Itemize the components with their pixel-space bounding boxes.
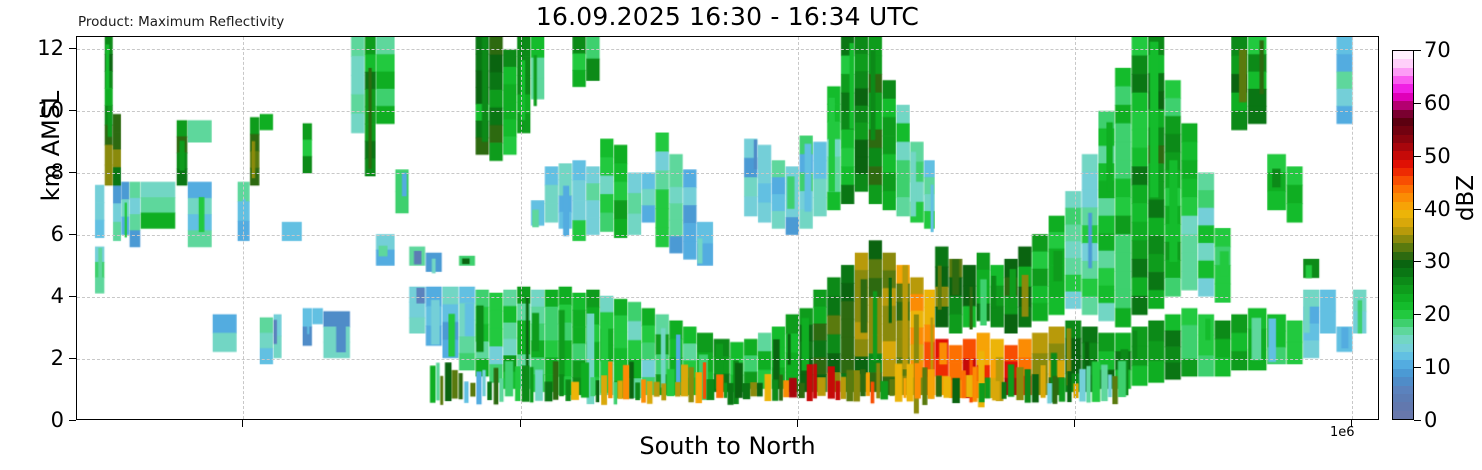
colorbar-segment: [1393, 327, 1413, 336]
colorbar-segment: [1393, 276, 1413, 285]
y-tick-mark: [69, 358, 76, 359]
colorbar-segment: [1393, 59, 1413, 68]
colorbar-tick-label: 30: [1424, 249, 1451, 273]
colorbar-tick-label: 60: [1424, 91, 1451, 115]
colorbar-segment: [1393, 360, 1413, 369]
y-tick-mark: [69, 234, 76, 235]
colorbar-segment: [1393, 76, 1413, 85]
colorbar-segment: [1393, 402, 1413, 411]
colorbar-segment: [1393, 335, 1413, 344]
reflectivity-heatmap: [77, 37, 1378, 419]
y-tick-mark: [69, 296, 76, 297]
colorbar: [1392, 50, 1414, 420]
y-axis-label: km AMSL: [37, 51, 65, 241]
colorbar-segment: [1393, 184, 1413, 193]
colorbar-tick-mark: [1414, 103, 1421, 104]
colorbar-tick-label: 50: [1424, 144, 1451, 168]
colorbar-segment: [1393, 368, 1413, 377]
y-tick-label: 2: [51, 346, 64, 370]
colorbar-segment: [1393, 84, 1413, 93]
colorbar-tick-label: 70: [1424, 38, 1451, 62]
colorbar-tick-mark: [1414, 420, 1421, 421]
colorbar-segment: [1393, 243, 1413, 252]
colorbar-segment: [1393, 143, 1413, 152]
colorbar-tick-label: 10: [1424, 355, 1451, 379]
x-tick-mark: [242, 420, 243, 427]
colorbar-segment: [1393, 151, 1413, 160]
colorbar-segment: [1393, 377, 1413, 386]
colorbar-segment: [1393, 301, 1413, 310]
page-title: 16.09.2025 16:30 - 16:34 UTC: [76, 2, 1379, 31]
colorbar-tick-mark: [1414, 156, 1421, 157]
colorbar-segment: [1393, 109, 1413, 118]
colorbar-tick-mark: [1414, 367, 1421, 368]
colorbar-tick-mark: [1414, 314, 1421, 315]
colorbar-segment: [1393, 51, 1413, 60]
colorbar-segment: [1393, 67, 1413, 76]
colorbar-segment: [1393, 251, 1413, 260]
colorbar-segment: [1393, 159, 1413, 168]
colorbar-tick-mark: [1414, 209, 1421, 210]
colorbar-gradient: [1392, 50, 1414, 420]
colorbar-segment: [1393, 134, 1413, 143]
y-tick-mark: [69, 420, 76, 421]
plot-area: [76, 36, 1379, 420]
colorbar-segment: [1393, 260, 1413, 269]
colorbar-segment: [1393, 218, 1413, 227]
x-axis-label: South to North: [76, 432, 1379, 460]
colorbar-segment: [1393, 126, 1413, 135]
colorbar-tick-label: 20: [1424, 302, 1451, 326]
colorbar-segment: [1393, 226, 1413, 235]
colorbar-segment: [1393, 293, 1413, 302]
x-tick-mark: [520, 420, 521, 427]
colorbar-segment: [1393, 352, 1413, 361]
colorbar-segment: [1393, 285, 1413, 294]
colorbar-tick-mark: [1414, 50, 1421, 51]
colorbar-segment: [1393, 117, 1413, 126]
colorbar-label: dBZ: [1453, 138, 1479, 258]
y-tick-mark: [69, 110, 76, 111]
colorbar-tick-label: 40: [1424, 197, 1451, 221]
colorbar-segment: [1393, 385, 1413, 394]
colorbar-segment: [1393, 176, 1413, 185]
colorbar-segment: [1393, 101, 1413, 110]
colorbar-segment: [1393, 268, 1413, 277]
colorbar-tick-label: 0: [1424, 408, 1437, 432]
x-axis-offset-text: 1e6: [1330, 425, 1355, 440]
colorbar-segment: [1393, 201, 1413, 210]
colorbar-segment: [1393, 393, 1413, 402]
colorbar-segment: [1393, 343, 1413, 352]
colorbar-segment: [1393, 92, 1413, 101]
y-tick-mark: [69, 48, 76, 49]
colorbar-segment: [1393, 318, 1413, 327]
y-tick-label: 0: [51, 408, 64, 432]
y-tick-label: 4: [51, 284, 64, 308]
colorbar-segment: [1393, 410, 1413, 419]
colorbar-segment: [1393, 209, 1413, 218]
colorbar-tick-mark: [1414, 261, 1421, 262]
x-tick-mark: [797, 420, 798, 427]
colorbar-segment: [1393, 168, 1413, 177]
colorbar-segment: [1393, 193, 1413, 202]
colorbar-segment: [1393, 235, 1413, 244]
x-tick-mark: [1074, 420, 1075, 427]
radar-cross-section-figure: Product: Maximum Reflectivity 16.09.2025…: [0, 0, 1482, 470]
y-tick-mark: [69, 172, 76, 173]
colorbar-segment: [1393, 310, 1413, 319]
